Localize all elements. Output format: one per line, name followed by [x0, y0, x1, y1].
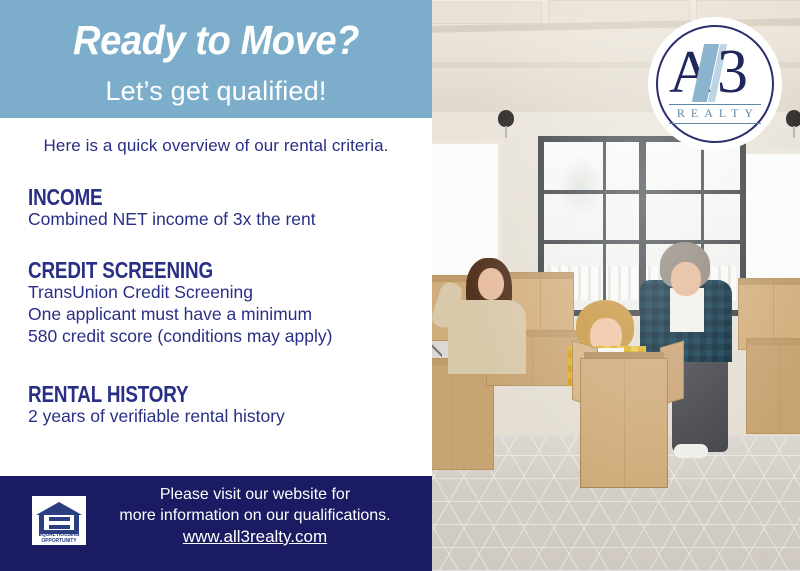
ceiling-panel: [428, 2, 542, 24]
wall-sconce: [786, 110, 800, 127]
section-title: CREDIT SCREENING: [28, 258, 356, 282]
logo-mark: A 3: [651, 42, 779, 104]
sconce-stem: [793, 126, 795, 138]
equal-housing-line2: OPPORTUNITY: [41, 538, 76, 544]
logo-rule-bottom: [669, 123, 761, 124]
moving-box: [746, 338, 800, 434]
father-shoe: [674, 444, 708, 458]
wall-sconce: [498, 110, 514, 127]
flyer: Ready to Move? Let’s get qualified! Here…: [0, 0, 800, 571]
section-income: INCOME Combined NET income of 3x the ren…: [28, 185, 428, 231]
section-rental-history: RENTAL HISTORY 2 years of verifiable ren…: [28, 382, 428, 428]
section-line: Combined NET income of 3x the rent: [28, 209, 428, 231]
hero-moving-box: [580, 358, 668, 488]
moving-box: [428, 358, 494, 470]
website-link[interactable]: www.all3realty.com: [100, 526, 410, 547]
a3-realty-logo: A 3 REALTY: [651, 20, 779, 148]
section-title: INCOME: [28, 185, 356, 209]
sconce-stem: [505, 126, 507, 138]
equal-housing-opportunity-icon: EQUAL HOUSING OPPORTUNITY: [30, 494, 88, 547]
page-subtitle: Let’s get qualified!: [0, 76, 432, 107]
section-line: One applicant must have a minimum: [28, 304, 428, 326]
logo-wordmark: REALTY: [651, 106, 779, 121]
logo-number-3: 3: [717, 41, 748, 103]
page-title: Ready to Move?: [15, 20, 417, 61]
mother-face: [478, 268, 504, 300]
mother-coat: [448, 300, 526, 374]
section-title: RENTAL HISTORY: [28, 382, 356, 406]
logo-rule-top: [669, 104, 761, 105]
section-line: 580 credit score (conditions may apply): [28, 326, 428, 348]
section-line: 2 years of verifiable rental history: [28, 406, 428, 428]
info-panel: Ready to Move? Let’s get qualified! Here…: [0, 0, 432, 571]
intro-text: Here is a quick overview of our rental c…: [0, 136, 432, 156]
footer-line-1: Please visit our website for: [100, 484, 410, 505]
father-face: [671, 262, 701, 296]
section-credit-screening: CREDIT SCREENING TransUnion Credit Scree…: [28, 258, 428, 348]
section-line: TransUnion Credit Screening: [28, 282, 428, 304]
footer-line-2: more information on our qualifications.: [100, 505, 410, 526]
footer-text: Please visit our website for more inform…: [100, 484, 410, 547]
